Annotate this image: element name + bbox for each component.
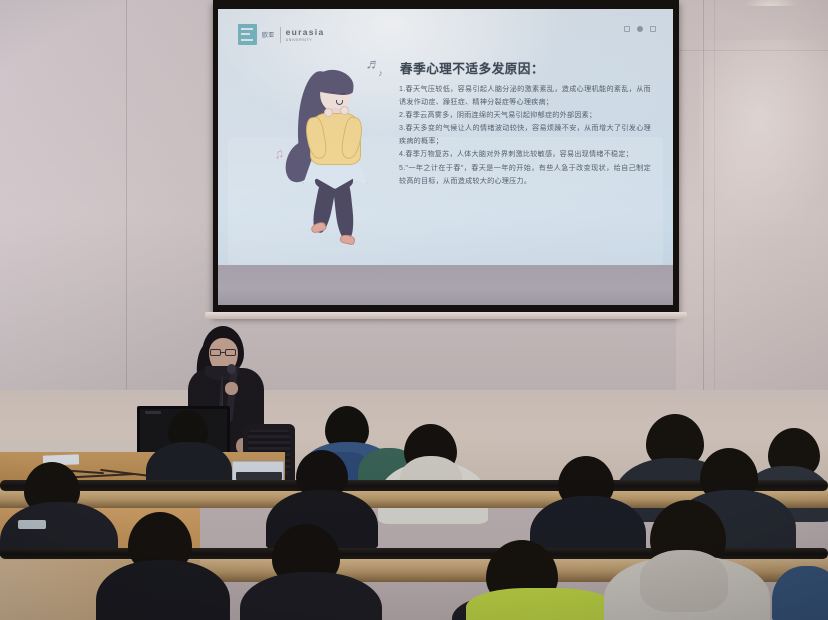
slide-bullet: 1.春天气压较低，容易引起人脑分泌的激素紊乱，造成心理机能的紊乱，从而诱发作动症…: [399, 83, 651, 109]
screen-unused-area: [218, 265, 673, 305]
logo-wordmark: eurasia: [286, 27, 325, 37]
projection-screen-frame: 欧亚 eurasia UNIVERSITY ♬ ♪: [213, 0, 679, 316]
minimize-icon[interactable]: [624, 26, 630, 32]
close-icon[interactable]: [650, 26, 656, 32]
eurasia-e-logo-icon: [238, 24, 257, 45]
logo-cn-text: 欧亚: [262, 30, 275, 39]
slide-window-controls[interactable]: [624, 26, 656, 32]
slide-bullet: 2.春季云高雾多，阴雨连绵的天气易引起抑郁症的外部因素；: [399, 109, 651, 122]
slide-bullet: 4.春季万物复苏，人体大脑对外界刺激比较敏感，容易出现情绪不稳定；: [399, 148, 651, 161]
student-hood: [640, 550, 728, 612]
logo-divider: [280, 27, 281, 43]
slide-bullet: 3.春天多变的气候让人的情绪波动较快，容易烦躁不安，从而增大了引发心理疾病的概率…: [399, 122, 651, 148]
student-neon-jacket: [466, 588, 616, 620]
presentation-slide: 欧亚 eurasia UNIVERSITY ♬ ♪: [218, 9, 673, 267]
wall-light-glow: [700, 40, 828, 230]
music-note-icon: ♫: [273, 145, 285, 161]
slide-body: 1.春天气压较低，容易引起人脑分泌的激素紊乱，造成心理机能的紊乱，从而诱发作动症…: [399, 83, 651, 188]
glasses-icon: [210, 349, 237, 356]
logo-subtext: UNIVERSITY: [286, 38, 325, 42]
presenter-hand-upper: [225, 382, 238, 395]
maximize-icon[interactable]: [637, 26, 643, 32]
desk-device: [232, 461, 284, 482]
slide-title: 春季心理不适多发原因：: [400, 58, 544, 77]
projection-screen-surface: 欧亚 eurasia UNIVERSITY ♬ ♪: [218, 9, 673, 305]
slide-bullet: 5."一年之计在于春"，春天是一年的开始，有些人急于改变现状，给自己制定较高的目…: [399, 162, 651, 188]
lecture-hall-photo: 欧亚 eurasia UNIVERSITY ♬ ♪: [0, 0, 828, 620]
girl-hand-left: [324, 108, 333, 117]
screen-bottom-bar: [205, 312, 687, 319]
slide-logo: 欧亚 eurasia UNIVERSITY: [238, 24, 324, 45]
music-note-icon: ♪: [377, 68, 383, 78]
girl-shoe-right: [339, 234, 356, 246]
ceiling-light: [744, 0, 798, 6]
microphone-head: [227, 364, 236, 374]
student-badge: [18, 520, 46, 529]
girl-hand-right: [340, 106, 349, 115]
dancing-girl-illustration: ♬ ♪ ♫: [270, 51, 395, 263]
